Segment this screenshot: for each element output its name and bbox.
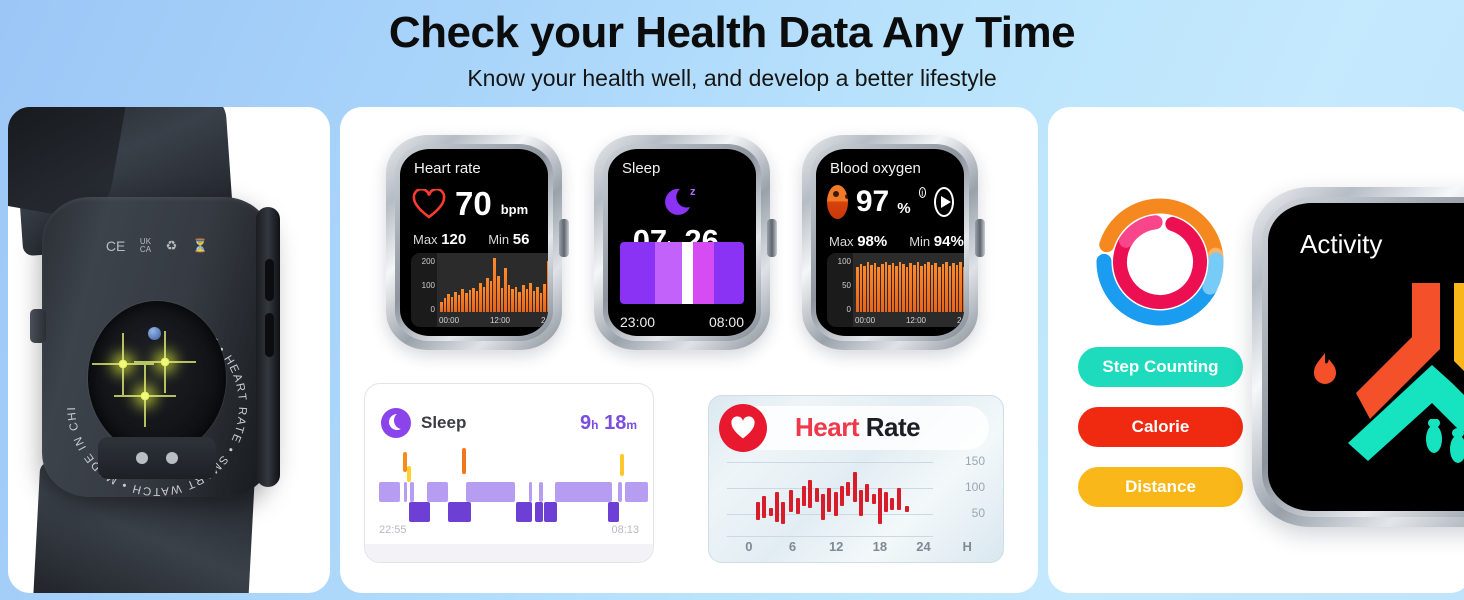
sleep-deep-segment	[409, 502, 430, 522]
chart-bar	[899, 262, 902, 312]
sleep-title: Sleep	[622, 160, 660, 177]
sleep-light-segment	[625, 482, 648, 502]
pill-distance[interactable]: Distance	[1078, 467, 1243, 507]
pill-label: Calorie	[1132, 417, 1190, 437]
sleep-light-segment	[618, 482, 622, 502]
chart-bar	[920, 266, 923, 312]
heart-rate-sensor-icon	[88, 301, 226, 455]
chart-bar	[863, 266, 866, 312]
hr-chart-plot: 00:00 12:00 24:00	[437, 253, 548, 327]
app-sleep-end: 08:13	[611, 524, 639, 536]
heart-rate-bar	[789, 490, 793, 512]
app-sleep-hours-unit: h	[591, 418, 598, 432]
recycle-icon: ♻	[166, 238, 178, 254]
chart-bar	[536, 287, 539, 312]
heart-rate-bar	[762, 496, 766, 518]
heart-rate-bar	[853, 472, 857, 502]
chart-bar	[483, 287, 486, 312]
app-sleep-card: Sleep 9h 18m 22:55 08:13	[364, 383, 654, 563]
heart-rate-screen: Heart rate 70 bpm Max 120 Min 56	[400, 149, 548, 336]
activity-card: Step Counting Calorie Distance Activity	[1048, 107, 1464, 593]
heart-rate-bar	[884, 492, 888, 512]
page-subtitle: Know your health well, and develop a bet…	[0, 65, 1464, 92]
activity-ring-icon	[1090, 192, 1230, 332]
chart-bar	[881, 264, 884, 312]
watch-blood-oxygen: Blood oxygen 97 % i Max 98% Min 94%	[802, 135, 978, 350]
chart-bar	[949, 266, 952, 312]
chart-bar	[440, 302, 443, 312]
charging-contacts	[98, 437, 216, 479]
heart-rate-bar	[802, 486, 806, 506]
watch-crown-icon[interactable]	[767, 219, 777, 257]
watch-activity: Activity	[1252, 187, 1464, 527]
ce-mark-icon: CE	[106, 238, 125, 254]
app-heart-title: Heart Rate	[795, 412, 920, 443]
chart-bar	[508, 285, 511, 312]
heart-rate-bar	[769, 508, 773, 516]
app-heart-x-axis: 06121824H	[727, 539, 989, 554]
watch-case-back: CE UKCA ♻ ⏳ SPORT • HEART RATE • SMART W…	[42, 197, 272, 497]
hr-max-label: Max	[413, 232, 438, 247]
chart-bar	[938, 267, 941, 312]
app-sleep-start: 22:55	[379, 524, 407, 536]
chart-bar	[458, 295, 461, 312]
chart-bar	[888, 265, 891, 312]
spo2-max-label: Max	[829, 234, 854, 249]
app-heart-xtick: 0	[727, 539, 771, 554]
sleep-deep-segment	[544, 502, 557, 522]
chart-bar	[476, 291, 479, 312]
spo2-ytick: 50	[842, 281, 851, 290]
heart-rate-bar	[890, 498, 894, 510]
watch-back-card: CE UKCA ♻ ⏳ SPORT • HEART RATE • SMART W…	[8, 107, 330, 593]
heart-rate-bar	[756, 502, 760, 520]
spo2-chart-plot: 00:00 12:00 24:00	[853, 253, 964, 327]
chart-bar	[533, 291, 536, 312]
heart-rate-bar	[872, 494, 876, 504]
chart-bar	[860, 264, 863, 312]
app-sleep-hypnogram	[379, 456, 639, 524]
chart-bar	[906, 267, 909, 312]
sleep-awake-segment	[407, 466, 411, 482]
hr-chart-x-axis: 00:00 12:00 24:00	[439, 316, 548, 325]
watch-heart-rate: Heart rate 70 bpm Max 120 Min 56	[386, 135, 562, 350]
measure-play-button[interactable]	[934, 187, 954, 217]
chart-bar	[472, 288, 475, 312]
watch-bezel: Heart rate 70 bpm Max 120 Min 56	[395, 144, 553, 341]
app-heart-chart: 150 100 50	[727, 458, 989, 536]
pill-label: Step Counting	[1102, 357, 1218, 377]
heart-rate-bar	[796, 498, 800, 514]
sleep-stage-segment	[620, 242, 655, 304]
watch-bezel: Activity	[1262, 197, 1464, 517]
pill-calorie[interactable]: Calorie	[1078, 407, 1243, 447]
app-heart-title-part2: Rate	[866, 412, 920, 442]
spo2-xtick: 12:00	[906, 316, 926, 325]
sleep-light-segment	[410, 482, 414, 502]
heart-rate-reading: 70 bpm	[412, 187, 528, 220]
chart-bar	[934, 263, 937, 312]
heart-rate-bar	[808, 480, 812, 508]
app-heart-xtick: H	[945, 539, 989, 554]
sleep-light-segment	[404, 482, 408, 502]
app-sleep-header: Sleep	[381, 408, 466, 438]
chart-bar	[870, 265, 873, 312]
heart-icon	[719, 404, 767, 452]
heart-rate-bar	[775, 492, 779, 522]
info-icon[interactable]: i	[919, 187, 927, 198]
weee-bin-icon: ⏳	[192, 238, 208, 254]
watch-speaker-slot-1	[265, 259, 274, 301]
sleep-stage-segment	[693, 242, 714, 304]
chart-bar	[515, 287, 518, 312]
charging-pin	[166, 452, 178, 464]
app-heart-rate-card: Heart Rate 150 100 50 06121824H	[708, 395, 1004, 563]
health-screens-card: Heart rate 70 bpm Max 120 Min 56	[340, 107, 1038, 593]
sleep-light-segment	[529, 482, 533, 502]
chart-bar	[931, 265, 934, 312]
hr-ytick: 0	[431, 305, 435, 314]
sleep-time-range: 23:00 08:00	[620, 314, 744, 330]
heart-rate-bar	[865, 484, 869, 502]
sleep-moon-wrap: z	[608, 183, 756, 228]
heart-rate-minmax: Max 120 Min 56	[413, 231, 548, 248]
chart-bar	[543, 284, 546, 312]
ukca-mark-icon: UKCA	[140, 238, 151, 254]
chart-bar	[924, 264, 927, 312]
blood-oxygen-unit: %	[897, 200, 910, 217]
chart-bar	[867, 262, 870, 312]
sleep-screen: Sleep z 07h 26m 23:00 08:00	[608, 149, 756, 336]
heart-glyph	[730, 416, 756, 440]
hr-chart-y-axis: 200 100 0	[411, 253, 437, 327]
activity-title: Activity	[1300, 229, 1382, 260]
hr-ytick: 200	[422, 257, 435, 266]
heart-rate-value: 70	[455, 187, 492, 220]
app-heart-ytick: 100	[965, 480, 985, 494]
chart-bar	[518, 292, 521, 312]
chart-bar	[447, 294, 450, 312]
sensor-green-led-icon	[140, 391, 150, 401]
sleep-stage-segment	[714, 242, 744, 304]
watch-crown-icon[interactable]	[975, 219, 985, 257]
chart-bar	[465, 293, 468, 312]
sleep-deep-segment	[608, 502, 620, 522]
chart-bar	[547, 261, 548, 312]
chart-bar	[501, 288, 504, 312]
hr-min-value: 56	[513, 231, 530, 248]
chart-bar	[856, 267, 859, 312]
heart-rate-bar	[905, 506, 909, 512]
chart-bar	[874, 263, 877, 312]
sleep-stage-bar	[620, 242, 744, 304]
sleep-light-segment	[555, 482, 612, 502]
moon-icon: z	[660, 183, 704, 223]
spo2-xtick: 24:00	[957, 316, 964, 325]
sleep-deep-segment	[535, 502, 543, 522]
heart-rate-bar	[821, 494, 825, 520]
heart-rate-mini-chart: 200 100 0 00:00 12:00 24:00	[411, 253, 548, 327]
certification-marks: CE UKCA ♻ ⏳	[42, 237, 272, 254]
sleep-light-segment	[379, 482, 400, 502]
pill-label: Distance	[1125, 477, 1196, 497]
watch-crown-icon[interactable]	[559, 219, 569, 257]
chart-bar	[490, 281, 493, 312]
sleep-deep-segment	[516, 502, 533, 522]
svg-text:z: z	[690, 186, 696, 198]
sleep-stage-segment	[682, 242, 693, 304]
app-sleep-time-range: 22:55 08:13	[379, 524, 639, 536]
sleep-light-segment	[466, 482, 515, 502]
app-heart-title-part1: Heart	[795, 412, 859, 442]
sleep-start-time: 23:00	[620, 314, 655, 330]
watch-bezel: Sleep z 07h 26m 23:00 08:00	[603, 144, 761, 341]
heart-rate-bar	[859, 490, 863, 516]
chart-bar	[892, 263, 895, 312]
app-heart-ytick: 50	[972, 506, 985, 520]
spo2-ytick: 0	[847, 305, 851, 314]
hr-xtick: 00:00	[439, 316, 459, 325]
blood-oxygen-title: Blood oxygen	[830, 160, 921, 177]
blood-oxygen-minmax: Max 98% Min 94%	[829, 233, 964, 250]
watch-bezel: Blood oxygen 97 % i Max 98% Min 94%	[811, 144, 969, 341]
hr-xtick: 12:00	[490, 316, 510, 325]
heart-rate-bar	[878, 488, 882, 524]
blood-oxygen-mini-chart: 100 50 0 00:00 12:00 24:00	[827, 253, 964, 327]
watch-side-button[interactable]	[30, 309, 46, 343]
chart-bar	[451, 297, 454, 312]
sleep-stage-segment	[655, 242, 682, 304]
chart-bar	[956, 265, 959, 312]
chart-bar	[454, 292, 457, 312]
app-heart-xtick: 12	[814, 539, 858, 554]
app-heart-xtick: 18	[858, 539, 902, 554]
spo2-max-value: 98%	[857, 233, 887, 250]
app-heart-xtick: 6	[771, 539, 815, 554]
app-heart-ytick: 150	[965, 454, 985, 468]
chart-bar	[461, 289, 464, 312]
chart-bar	[945, 262, 948, 312]
blood-oxygen-screen: Blood oxygen 97 % i Max 98% Min 94%	[816, 149, 964, 336]
sleep-end-time: 08:00	[709, 314, 744, 330]
watch-sleep: Sleep z 07h 26m 23:00 08:00	[594, 135, 770, 350]
gridline	[727, 536, 933, 537]
chart-bar	[526, 289, 529, 312]
heart-rate-bar	[815, 488, 819, 502]
sleep-awake-segment	[620, 454, 624, 476]
app-sleep-footer-bar	[365, 544, 653, 562]
spo2-chart-x-axis: 00:00 12:00 24:00	[855, 316, 964, 325]
chart-bar	[917, 262, 920, 312]
app-heart-xtick: 24	[902, 539, 946, 554]
app-sleep-label: Sleep	[421, 413, 466, 433]
chart-bar	[942, 264, 945, 312]
spo2-xtick: 00:00	[855, 316, 875, 325]
sensor-green-led-icon	[160, 357, 170, 367]
sensor-green-led-icon	[118, 359, 128, 369]
watch-speaker-slot-2	[265, 313, 274, 357]
chart-bar	[444, 298, 447, 312]
heart-rate-title: Heart rate	[414, 160, 481, 177]
pill-step-counting[interactable]: Step Counting	[1078, 347, 1243, 387]
chart-bar	[877, 267, 880, 312]
spo2-chart-y-axis: 100 50 0	[827, 253, 853, 327]
chart-bar	[540, 293, 543, 312]
spo2-ytick: 100	[838, 257, 851, 266]
chart-bar	[479, 283, 482, 312]
app-sleep-minutes: 18	[604, 412, 626, 434]
heart-rate-bar	[846, 482, 850, 496]
chart-bar	[529, 283, 532, 312]
heart-rate-bar	[834, 492, 838, 516]
spo2-chart-bars	[856, 257, 964, 312]
chart-bar	[486, 278, 489, 312]
chart-bar	[469, 290, 472, 312]
chart-bar	[522, 285, 525, 312]
app-sleep-hours: 9	[580, 412, 591, 434]
blood-oxygen-value: 97	[856, 187, 889, 217]
chart-bar	[927, 262, 930, 312]
app-sleep-minutes-unit: m	[626, 418, 637, 432]
sleep-awake-segment	[462, 448, 466, 474]
hr-max-value: 120	[441, 231, 466, 248]
sensor-blue-led-icon	[148, 327, 161, 340]
charging-pin	[136, 452, 148, 464]
heart-outline-icon	[412, 189, 446, 219]
chart-bar	[902, 264, 905, 312]
moon-icon	[381, 408, 411, 438]
sleep-light-segment	[539, 482, 543, 502]
heart-rate-bar	[897, 488, 901, 510]
heart-rate-unit: bpm	[501, 202, 528, 217]
activity-arrows-icon	[1304, 275, 1464, 475]
chart-bar	[895, 266, 898, 312]
heart-rate-bar	[781, 502, 785, 524]
sleep-deep-segment	[448, 502, 471, 522]
sleep-light-segment	[427, 482, 448, 502]
play-triangle-icon	[941, 196, 951, 208]
hr-ytick: 100	[422, 281, 435, 290]
app-heart-bars	[753, 458, 911, 530]
blood-drop-icon	[827, 185, 848, 219]
chart-bar	[909, 263, 912, 312]
chart-bar	[959, 262, 962, 312]
spo2-min-value: 94%	[934, 233, 964, 250]
hr-chart-bars	[440, 257, 548, 312]
hr-xtick: 24:00	[541, 316, 548, 325]
activity-screen: Activity	[1268, 203, 1464, 511]
blood-oxygen-reading: 97 % i	[827, 185, 954, 219]
watch-back-photo: CE UKCA ♻ ⏳ SPORT • HEART RATE • SMART W…	[8, 107, 330, 593]
chart-bar	[493, 258, 496, 312]
heart-rate-bar	[840, 486, 844, 506]
chart-bar	[504, 268, 507, 312]
page-title: Check your Health Data Any Time	[0, 8, 1464, 59]
chart-bar	[913, 265, 916, 312]
hr-min-label: Min	[488, 232, 509, 247]
heart-rate-bar	[827, 488, 831, 512]
chart-bar	[963, 267, 964, 312]
chart-bar	[885, 262, 888, 312]
spo2-min-label: Min	[909, 234, 930, 249]
chart-bar	[511, 289, 514, 312]
chart-bar	[497, 276, 500, 312]
chart-bar	[952, 263, 955, 312]
page-header: Check your Health Data Any Time Know you…	[0, 8, 1464, 92]
app-sleep-total: 9h 18m	[580, 412, 637, 435]
